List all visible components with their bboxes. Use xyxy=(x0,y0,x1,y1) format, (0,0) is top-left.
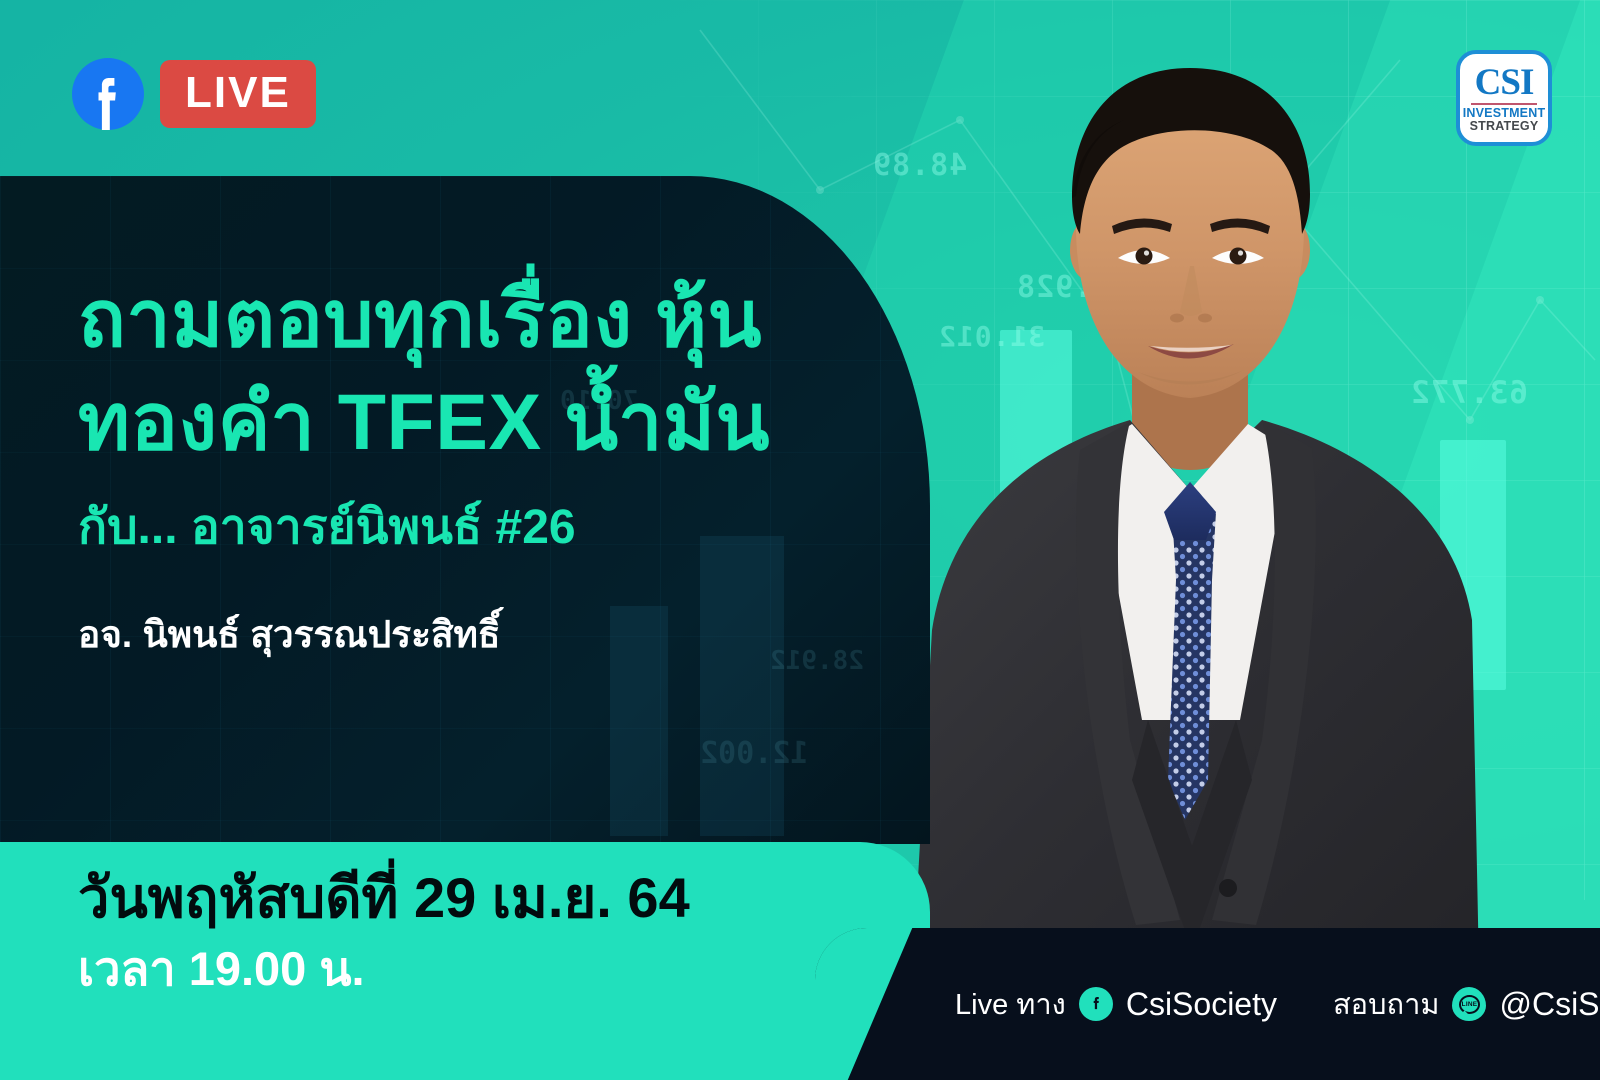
live-label: LIVE xyxy=(185,71,291,115)
speaker-name: อจ. นิพนธ์ สุวรรณประสิทธิ์ xyxy=(78,611,938,659)
live-badge: LIVE xyxy=(160,60,316,128)
event-date: วันพฤหัสบดีที่ 29 เม.ย. 64 xyxy=(78,864,690,932)
headline-subtitle: กับ... อาจารย์นิพนธ์ #26 xyxy=(78,497,938,558)
facebook-icon[interactable] xyxy=(1079,987,1113,1021)
footer-facebook-handle[interactable]: CsiSociety xyxy=(1126,986,1277,1023)
headline-line-2: ทองคำ TFEX น้ำมัน xyxy=(78,371,938,474)
csi-divider xyxy=(1471,103,1537,106)
line-icon[interactable]: LINE xyxy=(1452,987,1486,1021)
footer-live-label: Live ทาง xyxy=(955,981,1066,1027)
facebook-live-badge: LIVE xyxy=(72,58,316,130)
presenter-photo xyxy=(880,20,1500,1020)
event-time: เวลา 19.00 น. xyxy=(78,940,690,999)
csi-mark: CSI xyxy=(1475,65,1534,100)
footer-line-handle[interactable]: @CsiSociety xyxy=(1499,986,1600,1023)
panel-number: 12.002 xyxy=(700,736,808,771)
footer-bar: Live ทาง CsiSociety สอบถาม LINE @CsiSoci… xyxy=(815,928,1600,1080)
line-icon-label: LINE xyxy=(1462,1001,1478,1008)
csi-strategy-label: STRATEGY xyxy=(1470,120,1539,133)
footer-ask-label: สอบถาม xyxy=(1333,981,1439,1027)
footer-line-group: สอบถาม LINE @CsiSociety xyxy=(1333,981,1600,1027)
headline-block: ถามตอบทุกเรื่อง หุ้น ทองคำ TFEX น้ำมัน ก… xyxy=(78,268,938,659)
headline-line-1: ถามตอบทุกเรื่อง หุ้น xyxy=(78,268,938,371)
facebook-logo-icon[interactable] xyxy=(72,58,144,130)
poster-canvas: 48.8969.92831.01263.772 xyxy=(0,0,1600,1080)
schedule-text: วันพฤหัสบดีที่ 29 เม.ย. 64 เวลา 19.00 น. xyxy=(78,864,690,999)
footer-facebook-group: Live ทาง CsiSociety xyxy=(955,981,1277,1027)
csi-logo: CSI INVESTMENT STRATEGY xyxy=(1456,50,1552,146)
